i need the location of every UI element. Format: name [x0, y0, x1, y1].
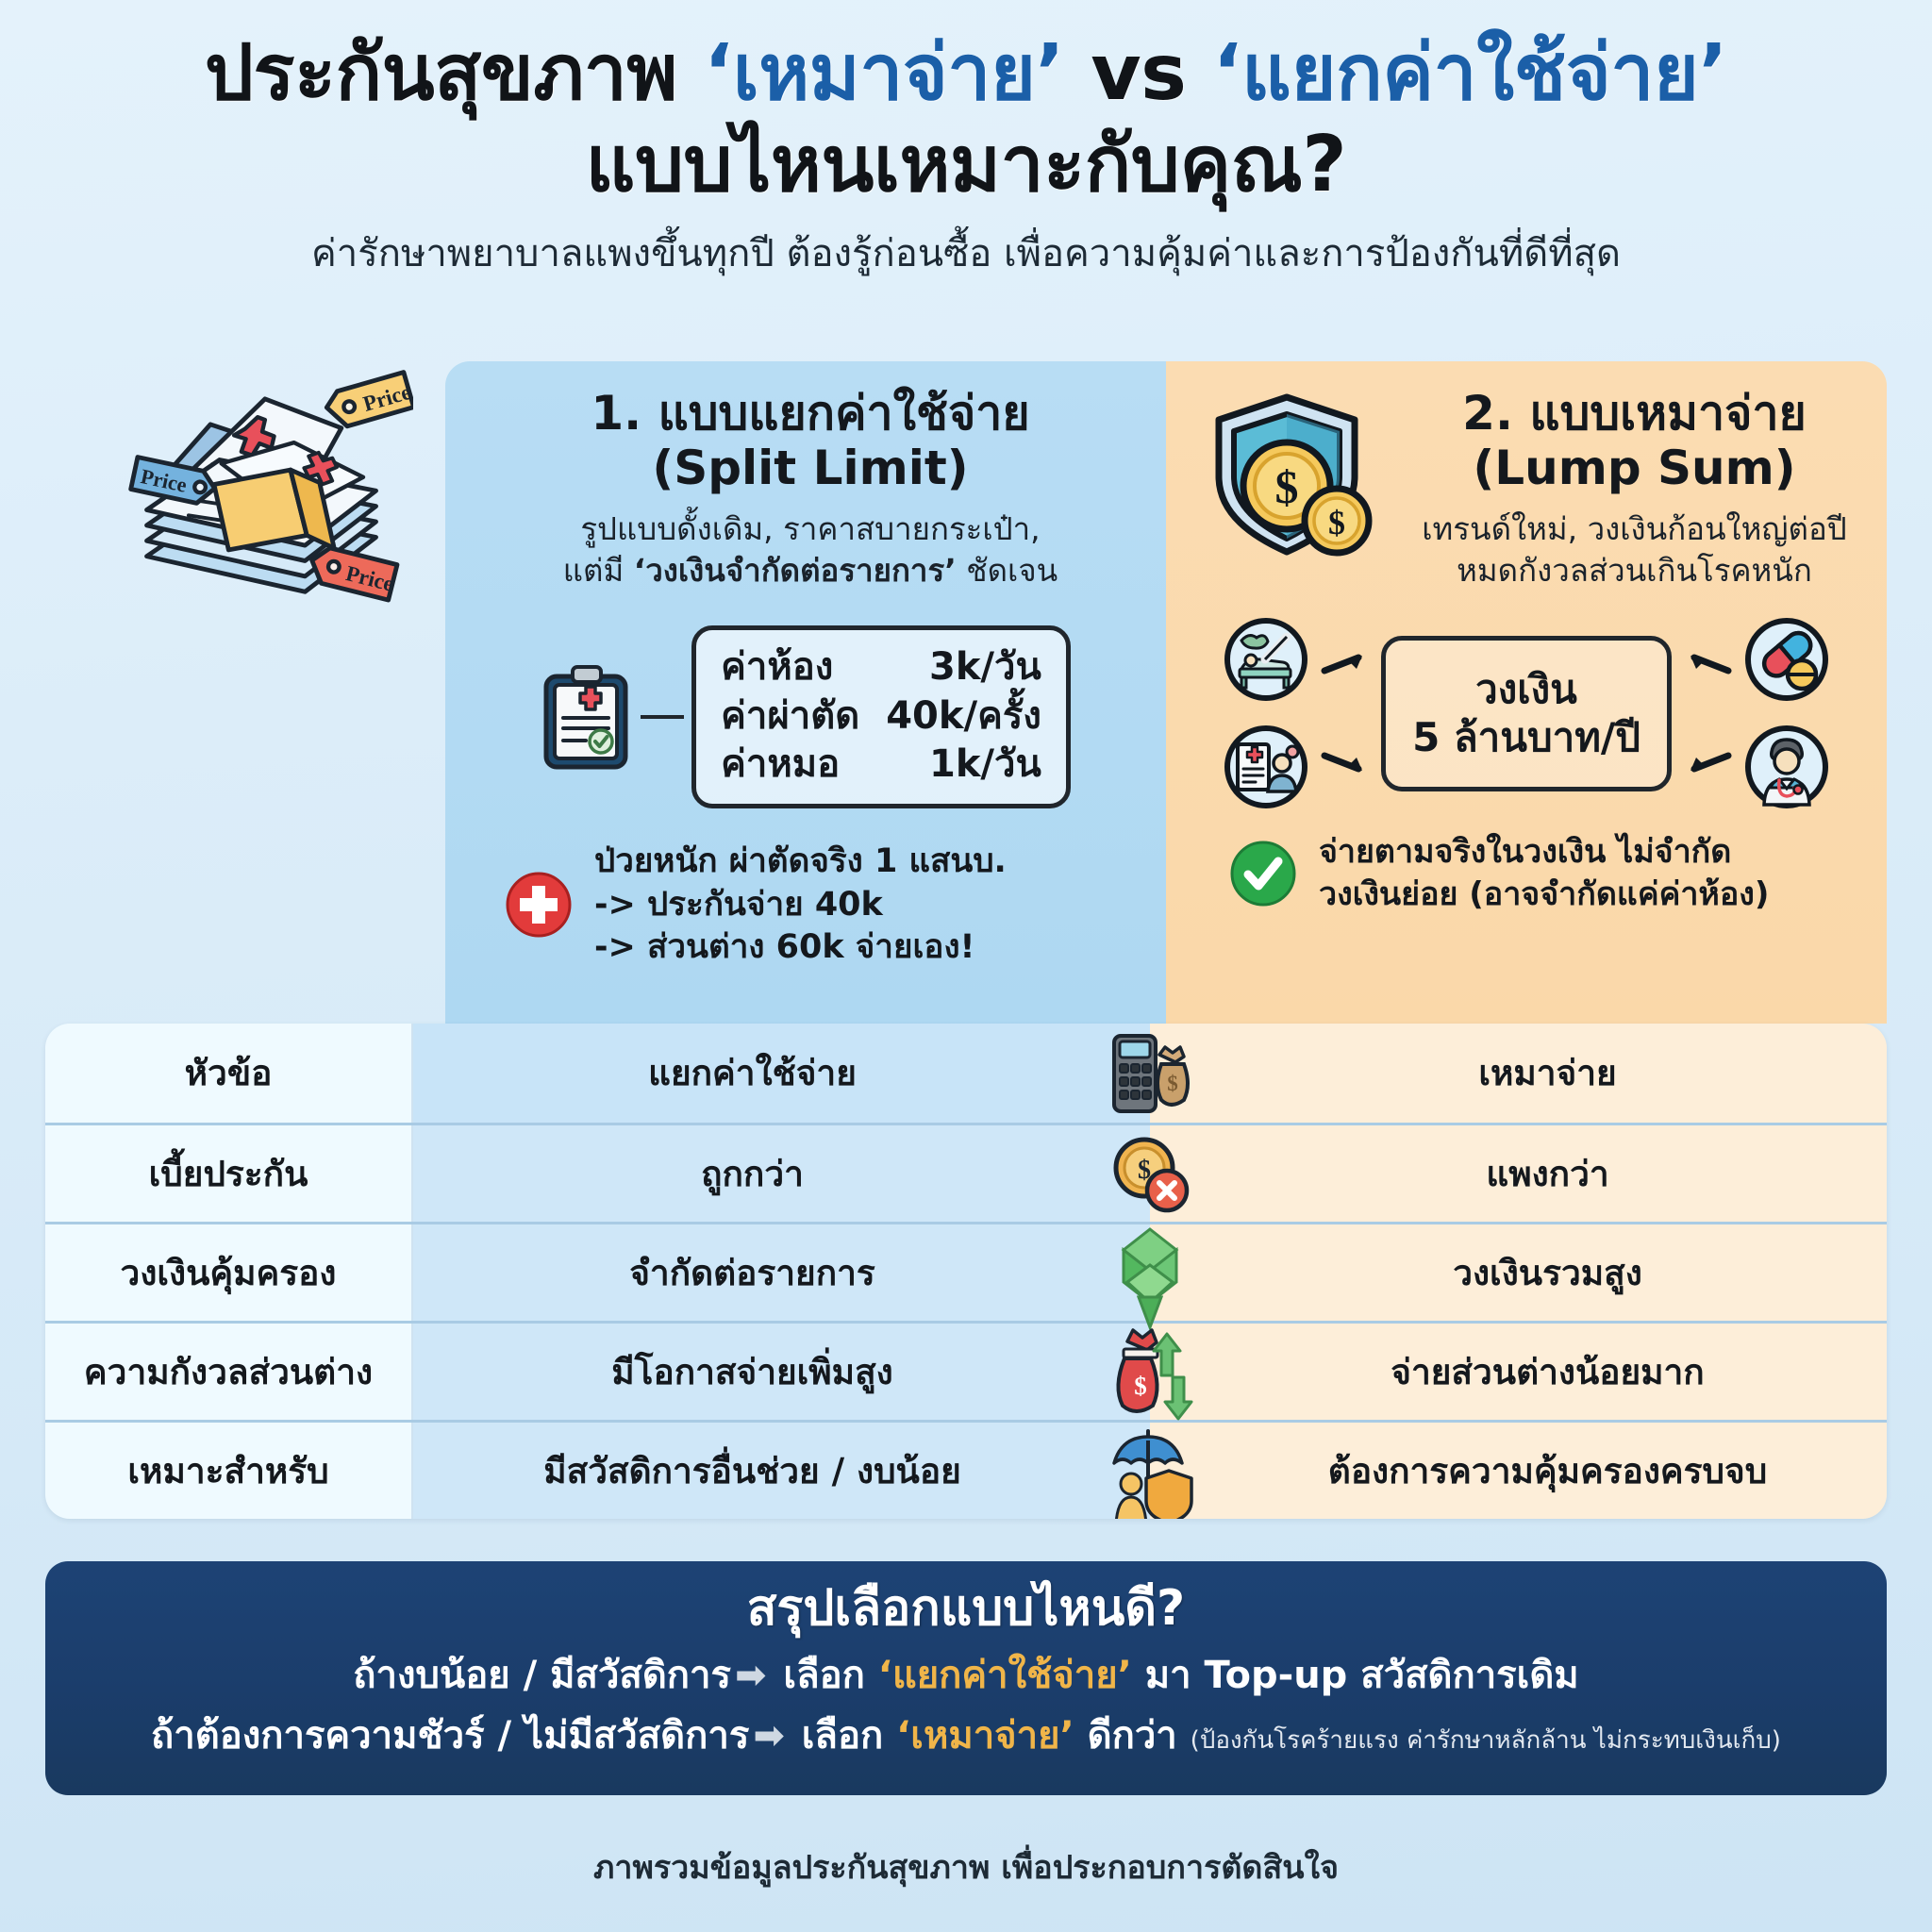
title-part-1: ประกันสุขภาพ — [205, 28, 704, 118]
green-check-icon — [1228, 839, 1298, 908]
summary-2-highlight: ‘เหมาจ่าย’ — [896, 1714, 1074, 1757]
row-value-split-limit: มีสวัสดิการอื่นช่วย / งบน้อย — [413, 1423, 1150, 1519]
page-subtitle: ค่ารักษาพยาบาลแพงขึ้นทุกปี ต้องรู้ก่อนซื… — [57, 228, 1875, 279]
table-row: วงเงินคุ้มครอง จำกัดต่อรายการ วงเงินรวมส… — [45, 1222, 1887, 1321]
panel-lump-sum-heading-th: 2. แบบเหมาจ่าย — [1462, 386, 1807, 441]
lump-sum-benefit-callout: จ่ายตามจริงในวงเงิน ไม่จำกัด วงเงินย่อย … — [1194, 831, 1858, 914]
pills-capsule-icon — [1743, 616, 1830, 703]
flow-arrows-left — [1321, 650, 1370, 776]
panel-lump-sum-heading-en: (Lump Sum) — [1410, 441, 1858, 495]
patient-bed-injection-icon — [1223, 616, 1309, 703]
flow-arrows-right — [1683, 650, 1732, 776]
row-value-lump-sum: ต้องการความคุ้มครองครบจบ — [1150, 1423, 1887, 1519]
panel-split-limit-subtext: รูปแบบดั้งเดิม, ราคาสบายกระเป๋า, แต่มี ‘… — [483, 508, 1138, 591]
panel-lump-sum-top: $ $ 2. แบบเหมาจ่าย (Lump Sum) เทรนด์ใหม่… — [1194, 386, 1858, 591]
clipboard-medical-icon — [541, 661, 633, 773]
limit-label: ค่าห้อง — [721, 643, 833, 691]
summary-box: สรุปเลือกแบบไหนดี? ถ้างบน้อย / มีสวัสดิก… — [45, 1561, 1887, 1795]
medical-report-patient-icon — [1223, 724, 1309, 810]
row-topic: ความกังวลส่วนต่าง — [45, 1324, 413, 1420]
table-row: ความกังวลส่วนต่าง มีโอกาสจ่ายเพิ่มสูง $ … — [45, 1321, 1887, 1420]
arrow-left-icon — [1683, 650, 1732, 680]
row-value-split-limit: ถูกกว่า — [413, 1125, 1150, 1222]
row-topic: เบี้ยประกัน — [45, 1125, 413, 1222]
example-line-2: -> ประกันจ่าย 40k — [594, 884, 1007, 927]
panel-split-limit: 1. แบบแยกค่าใช้จ่าย (Split Limit) รูปแบบ… — [445, 361, 1166, 1024]
limit-value: 3k/วัน — [929, 643, 1041, 691]
flow-icons-left — [1223, 616, 1309, 810]
arrow-right-icon — [1321, 746, 1370, 776]
page-title-line-2: แบบไหนเหมาะกับคุณ? — [57, 120, 1875, 211]
svg-text:$: $ — [1328, 504, 1345, 541]
summary-title: สรุปเลือกแบบไหนดี? — [74, 1578, 1858, 1640]
arrow-right-icon — [1321, 650, 1370, 680]
summary-recommendation-1: ถ้างบน้อย / มีสวัสดิการ➡ เลือก ‘แยกค่าใช… — [74, 1651, 1858, 1700]
sub2-emph: ‘วงเงินจำกัดต่อรายการ’ — [634, 552, 957, 589]
panel-lump-sum-sub-line-1: เทรนด์ใหม่, วงเงินก้อนใหญ่ต่อปี — [1410, 508, 1858, 550]
lump-sum-benefit-text: จ่ายตามจริงในวงเงิน ไม่จำกัด วงเงินย่อย … — [1319, 831, 1769, 914]
row-topic: เหมาะสำหรับ — [45, 1423, 413, 1519]
table-header-topic: หัวข้อ — [45, 1024, 413, 1123]
table-row: เหมาะสำหรับ มีสวัสดิการอื่นช่วย / งบน้อย… — [45, 1420, 1887, 1519]
lump-sum-label: วงเงิน — [1412, 665, 1641, 713]
table-header-row: หัวข้อ แยกค่าใช้จ่าย — [45, 1024, 1887, 1123]
flow-icons-right — [1743, 616, 1830, 810]
limit-value: 40k/ครั้ง — [886, 692, 1041, 741]
summary-2-condition: ถ้าต้องการความชัวร์ / ไม่มีสวัสดิการ — [151, 1714, 749, 1757]
panel-split-limit-heading: 1. แบบแยกค่าใช้จ่าย (Split Limit) — [483, 386, 1138, 495]
summary-1-tail: มา Top-up สวัสดิการเดิม — [1132, 1654, 1579, 1697]
table-header-lump-sum: เหมาจ่าย — [1150, 1024, 1887, 1123]
summary-1-choose: เลือก — [770, 1654, 877, 1697]
arrow-right-icon: ➡ — [749, 1714, 789, 1757]
svg-text:$: $ — [1275, 460, 1299, 513]
split-limit-values-box: ค่าห้อง 3k/วัน ค่าผ่าตัด 40k/ครั้ง ค่าหม… — [691, 625, 1071, 808]
split-limit-diagram: ค่าห้อง 3k/วัน ค่าผ่าตัด 40k/ครั้ง ค่าหม… — [474, 625, 1138, 808]
shield-coins-icon: $ $ — [1206, 386, 1390, 575]
title-vs: vs — [1064, 28, 1212, 118]
row-topic: วงเงินคุ้มครอง — [45, 1224, 413, 1321]
row-value-lump-sum: แพงกว่า — [1150, 1125, 1887, 1222]
panel-lump-sum: $ $ 2. แบบเหมาจ่าย (Lump Sum) เทรนด์ใหม่… — [1166, 361, 1887, 1024]
sub2-a: แต่มี — [563, 552, 634, 589]
doctor-stethoscope-icon — [1743, 724, 1830, 810]
summary-recommendation-2: ถ้าต้องการความชัวร์ / ไม่มีสวัสดิการ➡ เล… — [74, 1711, 1858, 1760]
example-line-3: -> ส่วนต่าง 60k จ่ายเอง! — [594, 926, 1007, 970]
panel-lump-sum-text: 2. แบบเหมาจ่าย (Lump Sum) เทรนด์ใหม่, วง… — [1410, 386, 1858, 591]
table-header-split-limit: แยกค่าใช้จ่าย — [413, 1024, 1150, 1123]
limit-value: 1k/วัน — [929, 741, 1041, 789]
example-line-1: ป่วยหนัก ผ่าตัดจริง 1 แสนบ. — [594, 841, 1007, 884]
panel-split-limit-heading-en: (Split Limit) — [483, 441, 1138, 495]
lump-sum-flow-diagram: วงเงิน 5 ล้านบาท/ปี — [1194, 616, 1858, 810]
split-limit-example-callout: ป่วยหนัก ผ่าตัดจริง 1 แสนบ. -> ประกันจ่า… — [474, 841, 1138, 970]
footer-caption: ภาพรวมข้อมูลประกันสุขภาพ เพื่อประกอบการต… — [0, 1841, 1932, 1892]
limit-label: ค่าหมอ — [721, 741, 840, 789]
panel-split-limit-sub-line-2: แต่มี ‘วงเงินจำกัดต่อรายการ’ ชัดเจน — [483, 550, 1138, 591]
table-row: เบี้ยประกัน ถูกกว่า $ แพงกว่า — [45, 1123, 1887, 1222]
row-value-lump-sum: จ่ายส่วนต่างน้อยมาก — [1150, 1324, 1887, 1420]
row-value-split-limit: จำกัดต่อรายการ — [413, 1224, 1150, 1321]
sub2-c: ชัดเจน — [957, 552, 1058, 589]
medical-bills-price-tags-illustration: Price Price Price — [111, 370, 413, 625]
summary-2-note: (ป้องกันโรคร้ายแรง ค่ารักษาหลักล้าน ไม่ก… — [1191, 1726, 1781, 1755]
benefit-line-2: วงเงินย่อย (อาจจำกัดแค่ค่าห้อง) — [1319, 874, 1769, 915]
panel-split-limit-heading-th: 1. แบบแยกค่าใช้จ่าย — [591, 386, 1029, 441]
summary-1-condition: ถ้างบน้อย / มีสวัสดิการ — [353, 1654, 731, 1697]
limit-label: ค่าผ่าตัด — [721, 692, 859, 741]
summary-2-tail: ดีกว่า — [1074, 1714, 1191, 1757]
split-limit-example-text: ป่วยหนัก ผ่าตัดจริง 1 แสนบ. -> ประกันจ่า… — [594, 841, 1007, 970]
panel-lump-sum-heading: 2. แบบเหมาจ่าย (Lump Sum) — [1410, 386, 1858, 495]
limit-row: ค่าห้อง 3k/วัน — [721, 643, 1041, 691]
limit-row: ค่าผ่าตัด 40k/ครั้ง — [721, 692, 1041, 741]
panel-split-limit-sub-line-1: รูปแบบดั้งเดิม, ราคาสบายกระเป๋า, — [483, 508, 1138, 550]
summary-1-highlight: ‘แยกค่าใช้จ่าย’ — [878, 1654, 1132, 1697]
lump-sum-amount-box: วงเงิน 5 ล้านบาท/ปี — [1381, 636, 1672, 791]
title-quote-lump-sum: ‘เหมาจ่าย’ — [704, 28, 1064, 118]
page-title-line-1: ประกันสุขภาพ ‘เหมาจ่าย’ vs ‘แยกค่าใช้จ่า… — [57, 28, 1875, 120]
comparison-panels: 1. แบบแยกค่าใช้จ่าย (Split Limit) รูปแบบ… — [445, 361, 1887, 1024]
infographic-page: ประกันสุขภาพ ‘เหมาจ่าย’ vs ‘แยกค่าใช้จ่า… — [0, 0, 1932, 1932]
medical-cross-icon — [504, 870, 574, 940]
row-value-lump-sum: วงเงินรวมสูง — [1150, 1224, 1887, 1321]
row-value-split-limit: มีโอกาสจ่ายเพิ่มสูง — [413, 1324, 1150, 1420]
arrow-left-icon — [1683, 746, 1732, 776]
arrow-right-icon: ➡ — [731, 1654, 771, 1697]
header: ประกันสุขภาพ ‘เหมาจ่าย’ vs ‘แยกค่าใช้จ่า… — [0, 0, 1932, 279]
comparison-table: หัวข้อ แยกค่าใช้จ่าย — [45, 1024, 1887, 1519]
lump-sum-value: 5 ล้านบาท/ปี — [1412, 713, 1641, 761]
summary-2-choose: เลือก — [789, 1714, 896, 1757]
benefit-line-1: จ่ายตามจริงในวงเงิน ไม่จำกัด — [1319, 831, 1769, 873]
diagram-connector-line — [641, 715, 684, 719]
panel-lump-sum-subtext: เทรนด์ใหม่, วงเงินก้อนใหญ่ต่อปี หมดกังวล… — [1410, 508, 1858, 591]
title-quote-split-limit: ‘แยกค่าใช้จ่าย’ — [1213, 28, 1728, 118]
panel-lump-sum-sub-line-2: หมดกังวลส่วนเกินโรคหนัก — [1410, 550, 1858, 591]
limit-row: ค่าหมอ 1k/วัน — [721, 741, 1041, 789]
